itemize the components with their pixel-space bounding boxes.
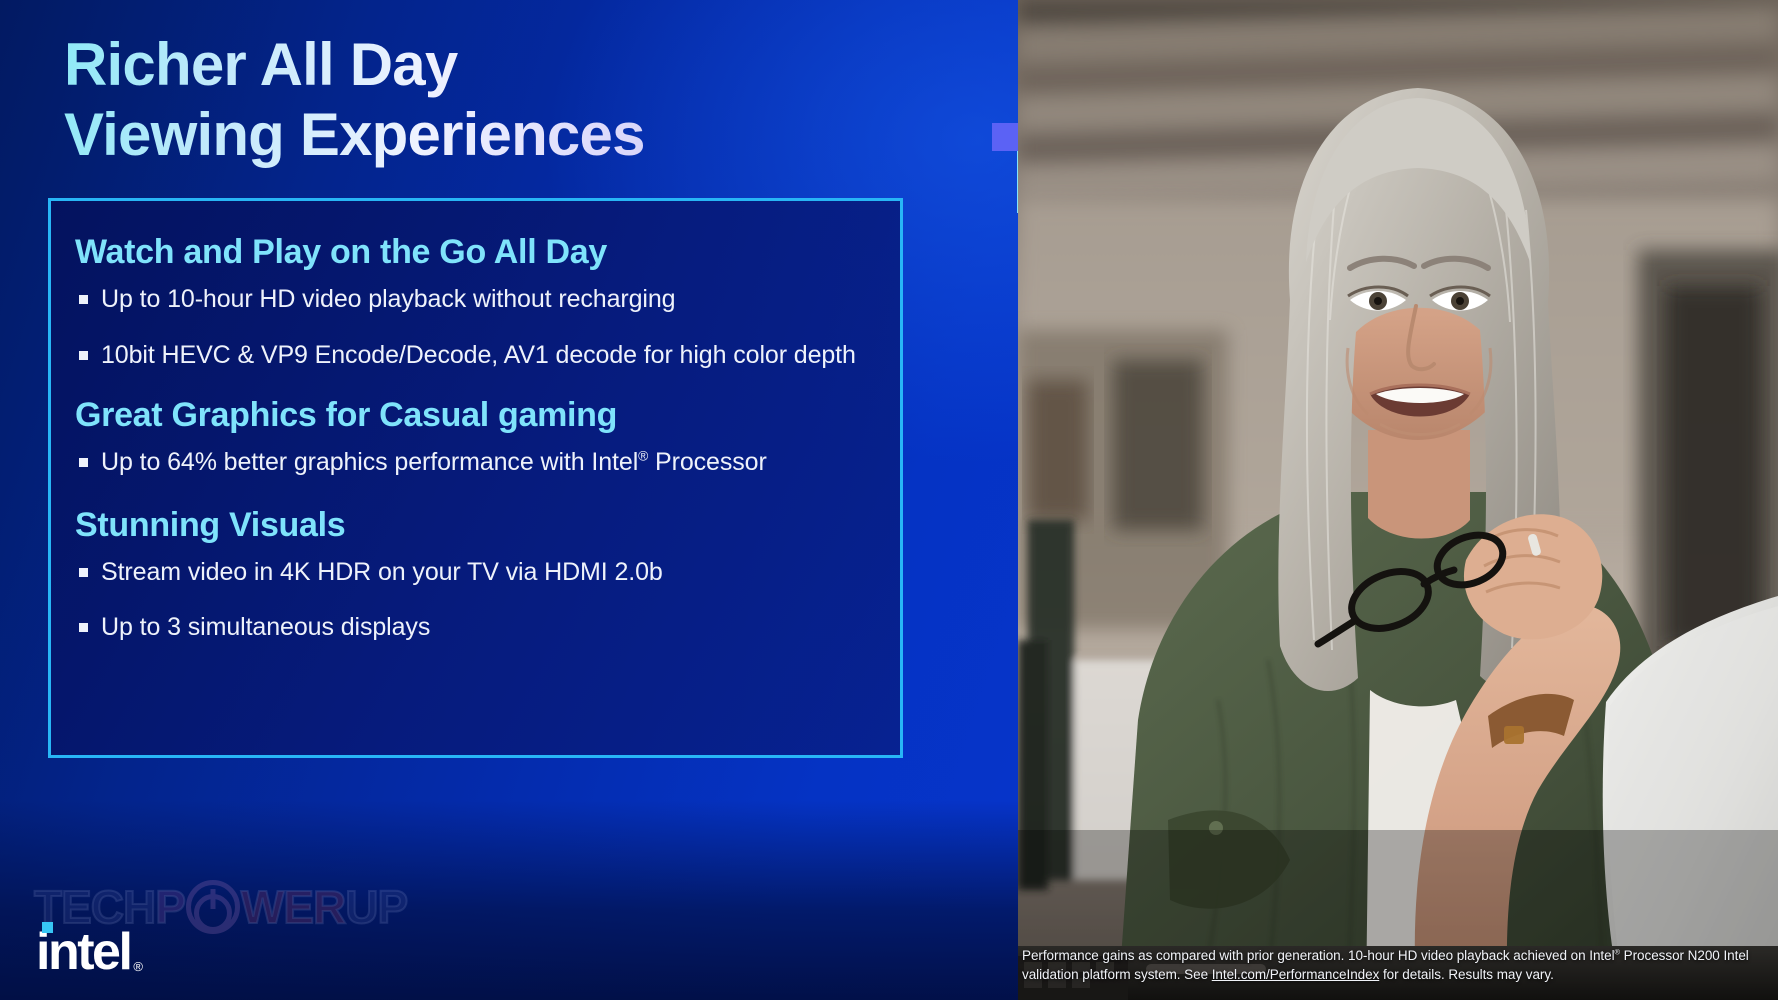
list-item: Up to 3 simultaneous displays	[75, 612, 874, 643]
list-item-label: Stream video in 4K HDR on your TV via HD…	[101, 558, 663, 586]
list-item: Up to 10-hour HD video playback without …	[75, 284, 874, 315]
intel-i-dot-icon	[42, 922, 53, 933]
section-heading-watch-and-play: Watch and Play on the Go All Day	[75, 233, 874, 271]
list-item: Up to 64% better graphics performance wi…	[75, 447, 874, 478]
intel-registered-icon: ®	[133, 959, 143, 974]
footnote-line1-post: Processor N200	[1620, 948, 1720, 963]
decorative-square-periwinkle	[992, 123, 1020, 151]
bullet-list-great-graphics: Up to 64% better graphics performance wi…	[75, 447, 874, 478]
intel-wordmark-text: intel	[36, 926, 130, 978]
bullet-square-icon	[79, 295, 88, 304]
list-item-label: Up to 10-hour HD video playback without …	[101, 285, 675, 313]
footnote-disclaimer: Performance gains as compared with prior…	[1022, 946, 1774, 984]
slide: Richer All Day Viewing Experiences Watch…	[0, 0, 1778, 1000]
bullet-square-icon	[79, 623, 88, 632]
footnote-line2-post: for details. Results may vary.	[1379, 967, 1554, 982]
footnote-line1-pre: Performance gains as compared with prior…	[1022, 948, 1615, 963]
list-item-label: 10bit HEVC & VP9 Encode/Decode, AV1 deco…	[101, 341, 856, 369]
registered-trademark-icon: ®	[638, 449, 648, 464]
list-item: 10bit HEVC & VP9 Encode/Decode, AV1 deco…	[75, 340, 874, 371]
panel-bottom-shade	[0, 800, 1018, 1000]
hero-photo	[1018, 0, 1778, 1000]
hero-photo-illustration	[1018, 0, 1778, 1000]
bullet-square-icon	[79, 351, 88, 360]
section-heading-great-graphics: Great Graphics for Casual gaming	[75, 396, 874, 434]
list-item: Stream video in 4K HDR on your TV via HD…	[75, 557, 874, 588]
section-heading-stunning-visuals: Stunning Visuals	[75, 506, 874, 544]
list-item-label-post: Processor	[648, 448, 766, 476]
list-item-label-pre: Up to 64% better graphics performance wi…	[101, 448, 638, 476]
intel-logo: intel ®	[36, 926, 143, 978]
bullet-list-watch-and-play: Up to 10-hour HD video playback without …	[75, 284, 874, 370]
bullet-list-stunning-visuals: Stream video in 4K HDR on your TV via HD…	[75, 557, 874, 643]
performance-index-link[interactable]: Intel.com/PerformanceIndex	[1212, 967, 1380, 982]
bullet-square-icon	[79, 568, 88, 577]
feature-content-box: Watch and Play on the Go All Day Up to 1…	[48, 198, 903, 758]
page-title: Richer All Day Viewing Experiences	[64, 30, 964, 170]
bullet-square-icon	[79, 458, 88, 467]
list-item-label: Up to 3 simultaneous displays	[101, 613, 430, 641]
